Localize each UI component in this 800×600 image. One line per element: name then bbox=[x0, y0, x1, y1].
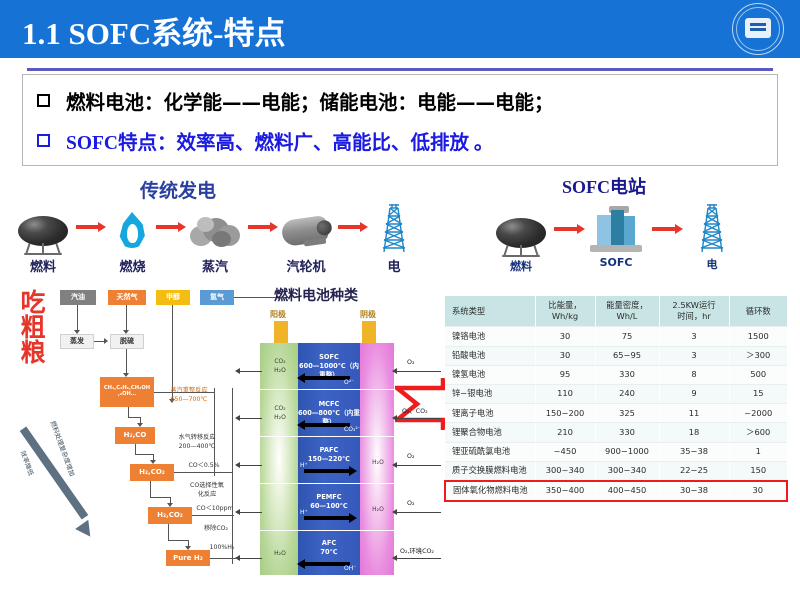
fuel-cell-types-diagram: 燃料电池种类 阳极 阴极 SOFC 600—1000℃（内重整） O²⁻ CO₂… bbox=[252, 285, 448, 585]
anode-inlet-1 bbox=[240, 371, 262, 372]
cell-value: 210 bbox=[535, 423, 595, 442]
cell-value: ~2000 bbox=[729, 404, 787, 423]
ion-label-pafc: H⁺ bbox=[300, 462, 308, 469]
cell-system-type: 固体氧化物燃料电池 bbox=[445, 481, 535, 501]
cell-name: PAFC bbox=[320, 446, 339, 454]
cell-temp: 70℃ bbox=[320, 548, 337, 556]
cathode-terminal bbox=[362, 321, 376, 345]
flow-arrow bbox=[652, 224, 684, 234]
bullet-item-2: SOFC特点：效率高、燃料广、高能比、低排放 。 bbox=[37, 126, 493, 155]
cell-value: 300~340 bbox=[535, 461, 595, 481]
anode-species-5: H₂O bbox=[264, 549, 296, 558]
table-row: 镍氢电池953308500 bbox=[445, 365, 787, 384]
gas-label-5: O₂,环境CO₂ bbox=[400, 546, 434, 555]
reaction-label-3: CO选择性氧 化反应 bbox=[176, 482, 238, 499]
cell-value: ＞300 bbox=[729, 346, 787, 365]
cell-info-afc: AFC 70℃ bbox=[298, 539, 360, 557]
cell-value: 30−38 bbox=[659, 481, 729, 501]
cell-name: MCFC bbox=[319, 400, 340, 408]
bullet-item-1: 燃料电池：化学能——电能；储能电池：电能——电能； bbox=[37, 86, 554, 115]
table-row: 固体氧化物燃料电池350−400400−45030−3830 bbox=[445, 481, 787, 501]
node-label: 燃料 bbox=[510, 258, 532, 274]
purity-label-3: 100%H₂ bbox=[200, 544, 244, 553]
connector bbox=[168, 540, 188, 541]
title-underline bbox=[27, 68, 773, 71]
cathode-species-3: H₂O bbox=[364, 459, 392, 466]
step-desulfurization: 脱硫 bbox=[110, 334, 144, 349]
th-energy-density: 能量密度，Wh/L bbox=[595, 296, 659, 327]
flow-arrow bbox=[156, 222, 186, 232]
th-system-type: 系统类型 bbox=[445, 296, 535, 327]
flame-icon bbox=[118, 212, 146, 248]
purity-label-1: CO＜0.5% bbox=[176, 462, 232, 471]
cell-value: 1500 bbox=[729, 327, 787, 346]
table-row: 锌−银电池110240915 bbox=[445, 384, 787, 403]
cell-value: 8 bbox=[659, 365, 729, 384]
gas-label-1: O₂ bbox=[407, 359, 414, 366]
square-bullet-icon bbox=[37, 94, 50, 107]
step-h2-co2-b: H₂,CO₂ bbox=[148, 507, 192, 524]
cell-system-type: 镍氢电池 bbox=[445, 365, 535, 384]
cell-value: 3 bbox=[659, 327, 729, 346]
flow-arrow bbox=[248, 222, 278, 232]
anode-inlet-3 bbox=[240, 465, 262, 466]
cell-system-type: 质子交换膜燃料电池 bbox=[445, 461, 535, 481]
square-bullet-icon bbox=[37, 134, 50, 147]
connector bbox=[192, 515, 234, 516]
connector bbox=[150, 481, 151, 497]
bullet-text-1: 燃料电池：化学能——电能；储能电池：电能——电能； bbox=[66, 86, 554, 115]
cell-value: 15 bbox=[729, 384, 787, 403]
title-banner: 1.1 SOFC系统-特点 bbox=[0, 0, 800, 58]
cell-value: 65−95 bbox=[595, 346, 659, 365]
row-divider bbox=[260, 389, 394, 390]
cell-value: 1 bbox=[729, 442, 787, 461]
node-label: 燃料 bbox=[30, 256, 56, 275]
cathode-inlet-1 bbox=[397, 371, 441, 372]
connector bbox=[135, 454, 153, 455]
step-h2-co2-a: H₂,CO₂ bbox=[130, 464, 174, 481]
complexity-arrow: 燃料处理复杂度增加 效率降低 bbox=[6, 407, 102, 557]
cell-value: ＞600 bbox=[729, 423, 787, 442]
gas-label-2: O₂、CO₂ bbox=[402, 406, 428, 415]
anode-label: 阳极 bbox=[270, 309, 286, 320]
cell-system-type: 铅酸电池 bbox=[445, 346, 535, 365]
cell-stack: SOFC 600—1000℃（内重整） O²⁻ CO₂H₂O MCFC 600—… bbox=[260, 343, 394, 575]
power-pylon-icon bbox=[694, 204, 730, 254]
battery-comparison-table: 系统类型 比能量，Wh/kg 能量密度，Wh/L 2.5KW运行时间，hr 循环… bbox=[444, 296, 786, 502]
cell-value: 400−450 bbox=[595, 481, 659, 501]
node-label: 电 bbox=[387, 256, 400, 275]
cell-value: 22−25 bbox=[659, 461, 729, 481]
reaction-temp: 650—700℃ bbox=[171, 396, 208, 403]
node-label: 汽轮机 bbox=[286, 256, 325, 275]
fuel-box-hydrogen: 氢气 bbox=[200, 290, 234, 305]
cell-value: 75 bbox=[595, 327, 659, 346]
table-row: 铅酸电池3065−953＞300 bbox=[445, 346, 787, 365]
cell-temp: 60—100℃ bbox=[310, 502, 348, 510]
cell-value: 325 bbox=[595, 404, 659, 423]
reaction-temp: 200—400℃ bbox=[179, 443, 216, 450]
cathode-inlet-4 bbox=[397, 512, 441, 513]
reaction-name: CO选择性氧 bbox=[190, 482, 224, 489]
cell-system-type: 锌−银电池 bbox=[445, 384, 535, 403]
table-row: 质子交换膜燃料电池300~340300−34022−25150 bbox=[445, 461, 787, 481]
th-runtime: 2.5KW运行时间，hr bbox=[659, 296, 729, 327]
fuel-box-gasoline: 汽油 bbox=[60, 290, 96, 305]
connector bbox=[174, 472, 232, 473]
node-label: SOFC bbox=[600, 256, 633, 269]
node-label: 燃烧 bbox=[119, 256, 145, 275]
cell-value: 150 bbox=[729, 461, 787, 481]
bullet-box: 燃料电池：化学能——电能；储能电池：电能——电能； SOFC特点：效率高、燃料广… bbox=[22, 74, 778, 166]
cell-value: 30 bbox=[729, 481, 787, 501]
cell-value: 9 bbox=[659, 384, 729, 403]
th-specific-energy: 比能量，Wh/kg bbox=[535, 296, 595, 327]
cathode-inlet-5 bbox=[397, 558, 441, 559]
page-title: 1.1 SOFC系统-特点 bbox=[22, 8, 286, 53]
ion-arrow-pafc bbox=[304, 469, 350, 473]
row-divider bbox=[260, 483, 394, 484]
cell-name: PEMFC bbox=[316, 493, 341, 501]
university-seal-icon bbox=[732, 3, 784, 55]
traditional-flow-title: 传统发电 bbox=[140, 176, 216, 203]
cell-value: 30 bbox=[535, 346, 595, 365]
connector bbox=[168, 524, 169, 540]
ion-label-sofc: O²⁻ bbox=[344, 379, 354, 386]
table-row: 镍铬电池307531500 bbox=[445, 327, 787, 346]
table-body: 镍铬电池307531500铅酸电池3065−953＞300镍氢电池9533085… bbox=[445, 327, 787, 501]
cell-value: 35−38 bbox=[659, 442, 729, 461]
table-row: 锂离子电池150−20032511~2000 bbox=[445, 404, 787, 423]
bullet-text-2: SOFC特点：效率高、燃料广、高能比、低排放 。 bbox=[66, 126, 493, 155]
anode-inlet-4 bbox=[240, 512, 262, 513]
gas-label-3: O₂ bbox=[407, 453, 414, 460]
cell-value: 30 bbox=[535, 327, 595, 346]
diagonal-label-2: 效率降低 bbox=[19, 449, 37, 477]
cell-value: 330 bbox=[595, 365, 659, 384]
node-label: 电 bbox=[707, 256, 718, 272]
cell-value: ~450 bbox=[535, 442, 595, 461]
table-row: 锂亚硫酰氯电池~450900−100035−381 bbox=[445, 442, 787, 461]
reaction-name: 水气转移反应 bbox=[178, 434, 215, 441]
cell-value: 3 bbox=[659, 346, 729, 365]
cell-value: 300−340 bbox=[595, 461, 659, 481]
connector bbox=[126, 305, 127, 332]
step-reformer: CH₄,C₂H₆,CH₃OH ,₂OH… bbox=[100, 377, 154, 407]
connector bbox=[128, 417, 140, 418]
sofc-plant-icon bbox=[590, 206, 642, 252]
reaction-label-4: 移除CO₂ bbox=[190, 525, 242, 534]
cell-system-type: 锂亚硫酰氯电池 bbox=[445, 442, 535, 461]
seal-emblem bbox=[745, 18, 771, 38]
cathode-inlet-2 bbox=[397, 418, 441, 419]
reaction-label-2: 水气转移反应 200—400℃ bbox=[162, 434, 232, 451]
gas-label-4: O₂ bbox=[407, 500, 414, 507]
connector bbox=[77, 305, 78, 332]
comparison-table: 系统类型 比能量，Wh/kg 能量密度，Wh/L 2.5KW运行时间，hr 循环… bbox=[444, 296, 788, 502]
cell-system-type: 锂离子电池 bbox=[445, 404, 535, 423]
flow-arrow bbox=[338, 222, 368, 232]
cell-temp: 150—220℃ bbox=[308, 455, 350, 463]
tank-legs bbox=[24, 243, 62, 254]
sofc-flow-title: SOFC电站 bbox=[562, 173, 646, 199]
table-row: 锂聚合物电池21033018＞600 bbox=[445, 423, 787, 442]
anode-column bbox=[260, 343, 298, 575]
reaction-temp: 化反应 bbox=[198, 491, 217, 498]
row-divider bbox=[260, 530, 394, 531]
fuel-box-methanol: 甲醇 bbox=[156, 290, 190, 305]
cell-value: 900−1000 bbox=[595, 442, 659, 461]
tank-legs bbox=[502, 245, 540, 256]
cell-name: SOFC bbox=[319, 353, 339, 361]
connector bbox=[150, 497, 170, 498]
cell-name: AFC bbox=[322, 539, 336, 547]
cell-value: 18 bbox=[659, 423, 729, 442]
cell-value: 240 bbox=[595, 384, 659, 403]
ion-label-pemfc: H⁺ bbox=[300, 509, 308, 516]
fuel-processing-diagram: 吃粗粮 汽油 天然气 甲醇 氢气 蒸发 脱硫 CH₄,C₂H₆,CH₃OH ,₂… bbox=[0, 282, 250, 598]
flow-arrow bbox=[76, 222, 106, 232]
fuel-box-natural-gas: 天然气 bbox=[108, 290, 146, 305]
cathode-label: 阴极 bbox=[360, 309, 376, 320]
arrow-head bbox=[104, 338, 108, 344]
cell-value: 110 bbox=[535, 384, 595, 403]
connector bbox=[135, 444, 136, 454]
cathode-inlet-3 bbox=[397, 465, 441, 466]
anode-terminal bbox=[274, 321, 288, 345]
flow-arrow bbox=[554, 224, 586, 234]
step-evaporation: 蒸发 bbox=[60, 334, 94, 349]
bus-line bbox=[214, 388, 215, 476]
cell-value: 350−400 bbox=[535, 481, 595, 501]
arrow-head bbox=[75, 520, 97, 541]
node-label: 蒸汽 bbox=[202, 256, 228, 275]
fuel-tank-icon bbox=[496, 218, 546, 248]
reaction-label-1: 蒸汽重整反应 650—700℃ bbox=[158, 387, 220, 404]
anode-species-1: CO₂H₂O bbox=[264, 357, 296, 375]
step-h2-co: H₂,CO bbox=[115, 427, 155, 444]
anode-species-2: CO₂H₂O bbox=[264, 404, 296, 422]
cell-system-type: 镍铬电池 bbox=[445, 327, 535, 346]
cell-value: 500 bbox=[729, 365, 787, 384]
power-pylon-icon bbox=[376, 204, 412, 254]
th-cycles: 循环数 bbox=[729, 296, 787, 327]
connector bbox=[126, 349, 127, 375]
power-generation-flow: 传统发电 SOFC电站 燃料 燃烧 蒸汽 汽轮机 bbox=[0, 170, 800, 285]
bus-line bbox=[232, 388, 233, 564]
table-header-row: 系统类型 比能量，Wh/kg 能量密度，Wh/L 2.5KW运行时间，hr 循环… bbox=[445, 296, 787, 327]
ion-label-mcfc: CO₃²⁻ bbox=[344, 426, 361, 433]
row-divider bbox=[260, 436, 394, 437]
stack-title: 燃料电池种类 bbox=[274, 285, 358, 305]
cathode-species-4: H₂O bbox=[364, 506, 392, 513]
steam-cloud-icon bbox=[188, 214, 242, 248]
cell-value: 11 bbox=[659, 404, 729, 423]
ion-label-afc: OH⁻ bbox=[344, 565, 356, 572]
connector bbox=[154, 392, 214, 393]
ion-arrow-pemfc bbox=[304, 516, 350, 520]
fuel-tank-icon bbox=[18, 216, 68, 246]
cell-value: 150−200 bbox=[535, 404, 595, 423]
cell-system-type: 锂聚合物电池 bbox=[445, 423, 535, 442]
cell-value: 95 bbox=[535, 365, 595, 384]
connector bbox=[128, 407, 129, 417]
slogan-text: 吃粗粮 bbox=[14, 290, 52, 365]
anode-inlet-5 bbox=[240, 558, 262, 559]
anode-inlet-2 bbox=[240, 418, 262, 419]
cell-value: 330 bbox=[595, 423, 659, 442]
